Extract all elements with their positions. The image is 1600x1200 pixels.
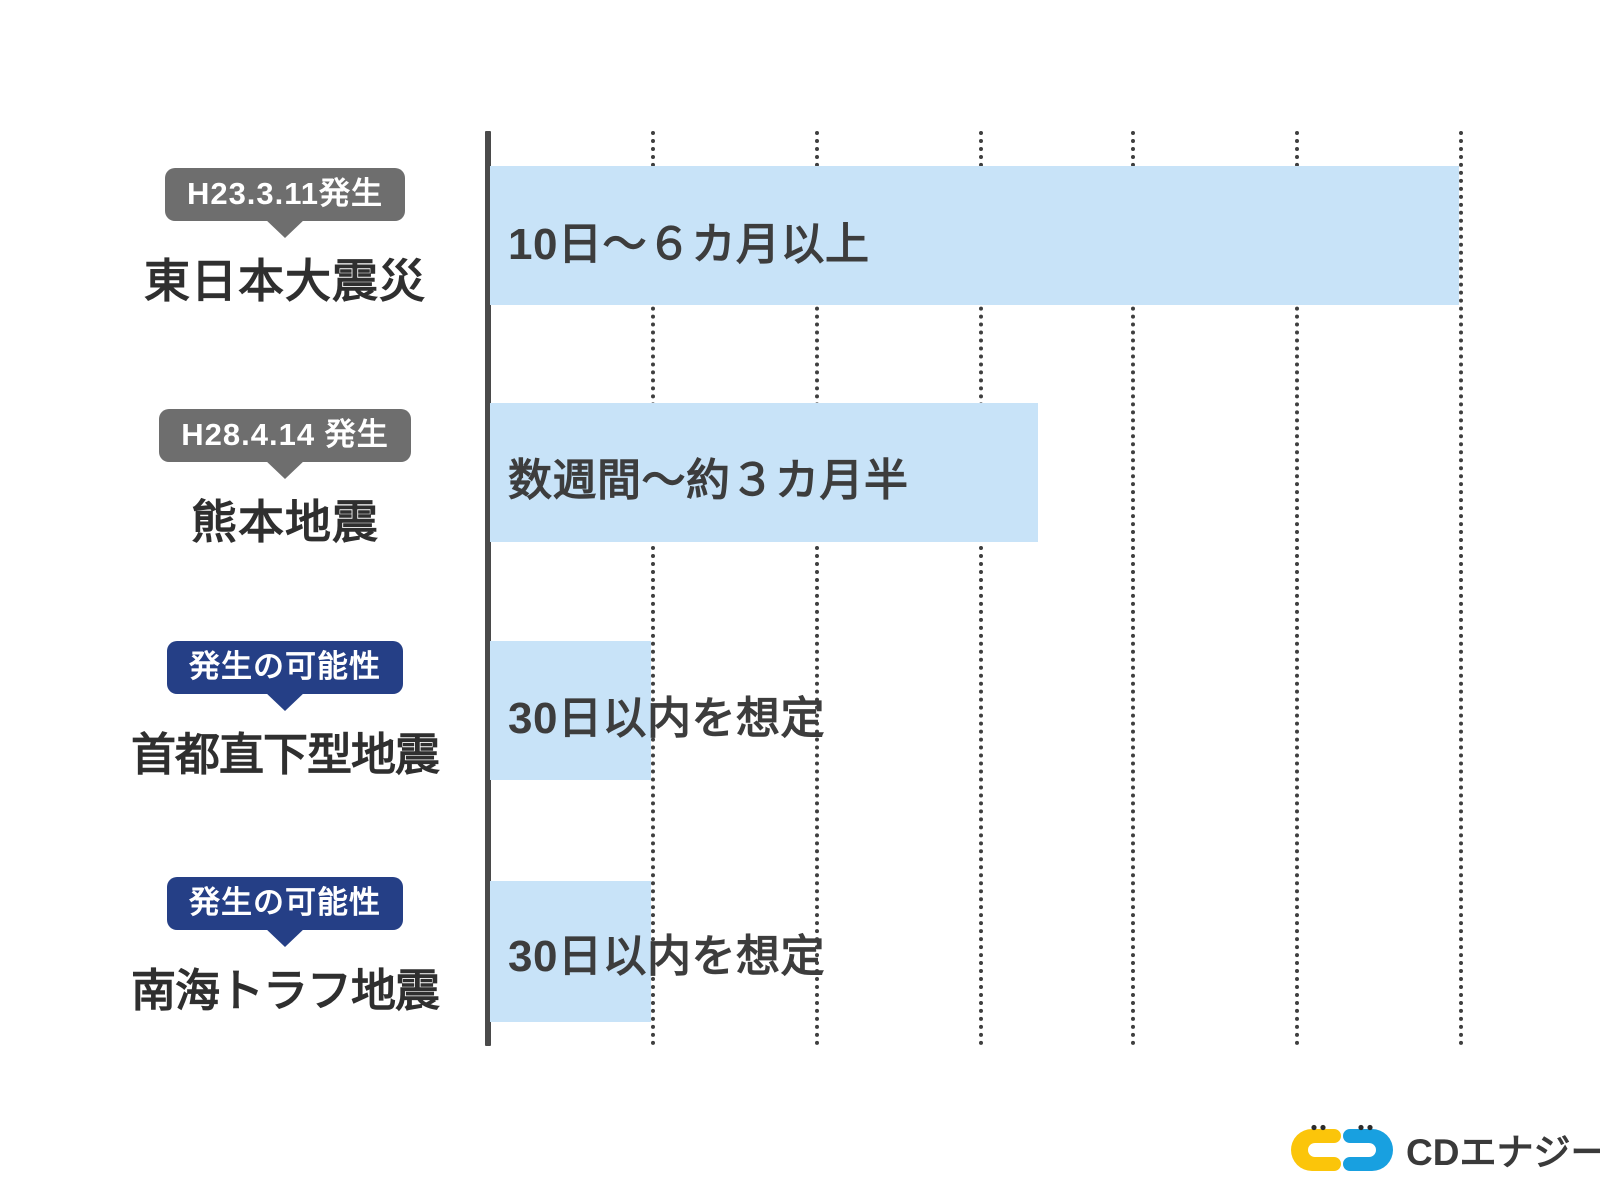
row-name-2: 熊本地震 [95, 486, 475, 552]
row-name-3: 首都直下型地震 [95, 718, 475, 783]
row-label-group-2: H28.4.14 発生 熊本地震 [95, 409, 475, 552]
badge-tail-icon-4 [264, 927, 306, 947]
bar-label-row-3: 30日以内を想定 [508, 682, 825, 746]
earthquake-recovery-duration-chart: 10日～６カ月以上 数週間～約３カ月半 30日以内を想定 30日以内を想定 H2… [0, 0, 1600, 1200]
badge-row-4: 発生の可能性 [167, 877, 403, 930]
badge-wrap-1: H23.3.11発生 [165, 168, 405, 221]
row-name-4: 南海トラフ地震 [95, 954, 475, 1019]
row-label-group-1: H23.3.11発生 東日本大震災 [95, 168, 475, 311]
badge-wrap-3: 発生の可能性 [167, 641, 403, 694]
bar-label-row-2: 数週間～約３カ月半 [508, 444, 909, 508]
badge-wrap-4: 発生の可能性 [167, 877, 403, 930]
badge-tail-icon-2 [264, 459, 306, 479]
badge-row-2: H28.4.14 発生 [159, 409, 410, 462]
row-name-1: 東日本大震災 [95, 245, 475, 311]
bar-label-row-1: 10日～６カ月以上 [508, 208, 869, 272]
badge-tail-icon-3 [264, 691, 306, 711]
row-label-group-3: 発生の可能性 首都直下型地震 [95, 641, 475, 783]
bar-label-row-4: 30日以内を想定 [508, 920, 825, 984]
gridline-6 [1459, 131, 1463, 1046]
row-label-group-4: 発生の可能性 南海トラフ地震 [95, 877, 475, 1019]
badge-row-1: H23.3.11発生 [165, 168, 405, 221]
brand-logo: CDエナジー [1288, 1118, 1578, 1180]
brand-logo-text: CDエナジー [1406, 1122, 1600, 1176]
badge-tail-icon-1 [264, 218, 306, 238]
badge-row-3: 発生の可能性 [167, 641, 403, 694]
badge-wrap-2: H28.4.14 発生 [159, 409, 410, 462]
cd-energy-mascot-mark-icon [1288, 1123, 1396, 1175]
